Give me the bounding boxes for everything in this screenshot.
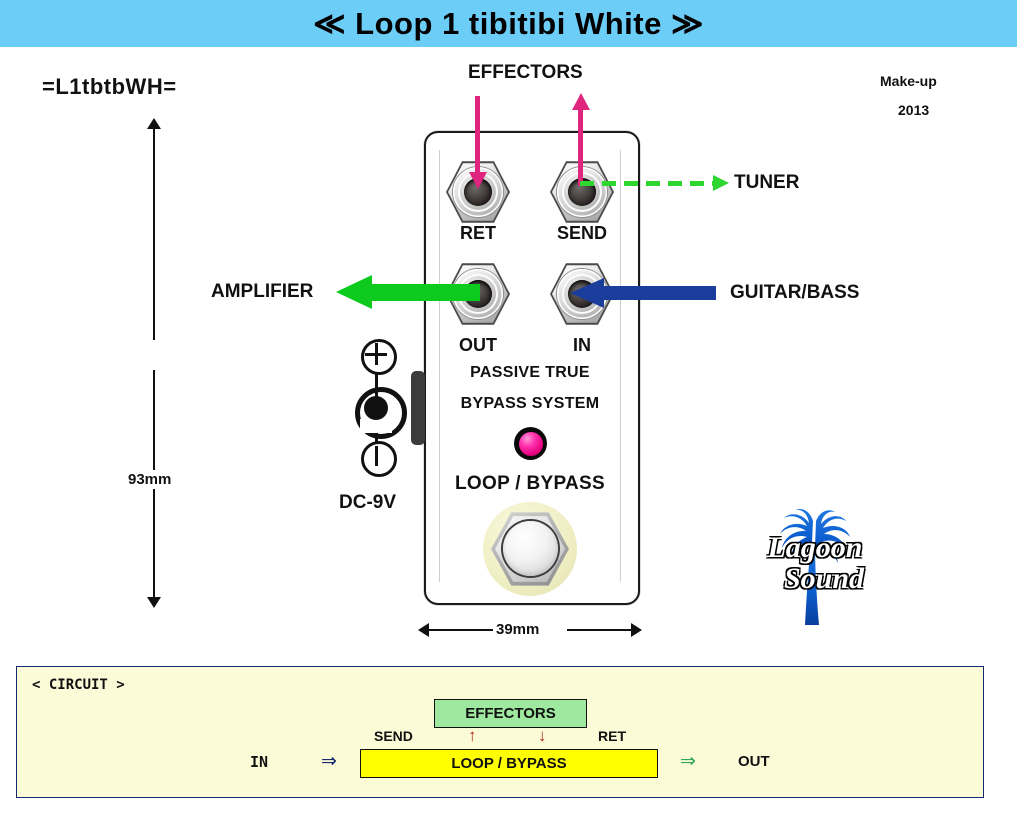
circuit-panel-title: < CIRCUIT >: [32, 677, 125, 693]
dc-arc-gap: [360, 419, 392, 433]
led-dot: [519, 432, 543, 456]
circuit-panel: [16, 666, 984, 798]
arrow-down-icon: [469, 172, 487, 189]
makeup-year-label: 2013: [898, 102, 929, 118]
effectors-return-line: [475, 96, 480, 174]
arrow-right-icon: [713, 175, 729, 191]
tuner-label: TUNER: [734, 172, 799, 194]
model-code-label: =L1tbtbWH=: [42, 74, 177, 100]
effectors-send-line: [578, 110, 583, 186]
dc-plus-vertical: [375, 343, 378, 365]
page-title: ≪ Loop 1 tibitibi White ≫: [313, 6, 704, 42]
arrow-right-icon: [631, 623, 642, 637]
circuit-arrow-down-icon: ↓: [538, 726, 547, 746]
dc-power-label: DC-9V: [339, 492, 396, 514]
jack-label-out: OUT: [433, 335, 523, 356]
circuit-ret-label: RET: [598, 728, 626, 744]
circuit-loop-bypass-box: LOOP / BYPASS: [360, 749, 658, 778]
dc-polarity-symbol: [350, 335, 402, 480]
circuit-effectors-box: EFFECTORS: [434, 699, 587, 728]
tuner-dashed-line: [580, 181, 715, 186]
jack-label-ret: RET: [433, 223, 523, 244]
pedal-text-loop-bypass: LOOP / BYPASS: [424, 473, 636, 495]
lagoon-sound-logo: Lagoon Sound: [750, 505, 880, 625]
effectors-label: EFFECTORS: [468, 62, 583, 84]
logo-line-1: Lagoon: [750, 533, 880, 564]
arrow-up-icon: [572, 93, 590, 110]
footswitch-cap[interactable]: [503, 521, 558, 576]
dc-minus-circle-icon: [361, 441, 397, 477]
jack-label-send: SEND: [537, 223, 627, 244]
circuit-arrow-in-icon: ⇒: [321, 750, 337, 773]
dimension-line-gap: [144, 340, 166, 370]
guitar-bass-label: GUITAR/BASS: [730, 282, 859, 304]
footswitch-button[interactable]: [483, 502, 577, 596]
arrow-down-icon: [147, 597, 161, 608]
makeup-label: Make-up: [880, 73, 937, 89]
logo-line-2: Sound: [750, 564, 880, 595]
pedal-text-passive-true: PASSIVE TRUE: [424, 364, 636, 382]
status-led: [514, 427, 547, 460]
circuit-out-label: OUT: [738, 753, 770, 770]
dc-minus-bar: [375, 446, 378, 466]
circuit-in-label: IN: [250, 753, 268, 771]
circuit-arrow-up-icon: ↑: [468, 726, 477, 746]
circuit-send-label: SEND: [374, 728, 413, 744]
dc-plus-circle-icon: [361, 339, 397, 375]
arrow-left-icon: [570, 278, 604, 308]
pedal-text-bypass-system: BYPASS SYSTEM: [424, 395, 636, 413]
arrow-left-icon: [418, 623, 429, 637]
amplifier-label: AMPLIFIER: [211, 281, 313, 303]
dc-power-side-jack: [411, 371, 425, 445]
jack-label-in: IN: [537, 335, 627, 356]
guitar-arrow-shaft: [604, 286, 716, 300]
logo-wordmark: Lagoon Sound: [750, 533, 880, 594]
amplifier-arrow-shaft: [370, 284, 480, 301]
height-dimension-line: [145, 118, 165, 608]
circuit-arrow-out-icon: ⇒: [680, 750, 696, 773]
width-dimension-label: 39mm: [493, 620, 542, 639]
title-bar: ≪ Loop 1 tibitibi White ≫: [0, 0, 1017, 47]
arrow-left-icon: [336, 275, 372, 309]
arrow-up-icon: [147, 118, 161, 129]
height-dimension-label: 93mm: [125, 470, 174, 489]
dc-center-pin-icon: [364, 396, 388, 420]
